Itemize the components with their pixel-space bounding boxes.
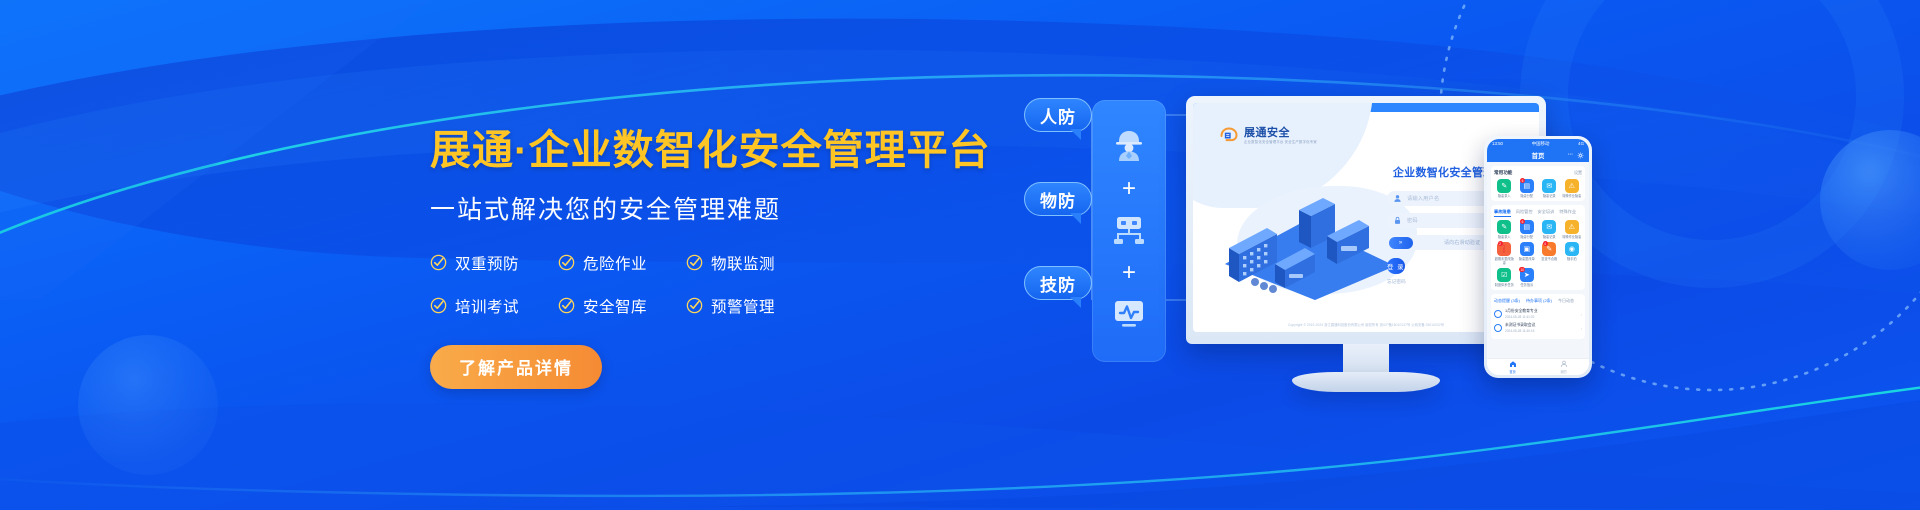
- badge-label: 物防: [1040, 187, 1076, 212]
- phone-header: 首页 ···: [1487, 148, 1589, 162]
- tab-special-work[interactable]: 特殊作业: [1559, 209, 1576, 217]
- badge-label: 技防: [1040, 271, 1076, 296]
- app-cell[interactable]: ⚠ 特殊作业隐患: [1562, 179, 1583, 198]
- diagonal-left: [0, 0, 430, 300]
- edit-icon: ✎: [1497, 179, 1511, 193]
- logo-mark-icon: [1219, 126, 1239, 146]
- activity-list-card: 动态提醒 (3条) 待办事项 (2条) 今日动态 1月份安全教育专业 2024-…: [1491, 294, 1585, 339]
- feature-label: 预警管理: [711, 295, 775, 317]
- notification-badge: 6: [1520, 178, 1525, 183]
- feature-label: 物联监测: [711, 252, 775, 274]
- list-item-title: 1月份安全教育专业: [1505, 309, 1578, 314]
- app-label: 超期未整改隐患: [1494, 258, 1515, 265]
- tabbar-profile[interactable]: 我的: [1560, 360, 1568, 374]
- badge-jifang[interactable]: 技防: [1024, 266, 1092, 300]
- pillar-icons: + +: [1092, 100, 1166, 362]
- hazard-icon-grid: ✎ 隐患录入 ▤ 6 隐患分配 ✉ 隐患记录 ⚠: [1494, 220, 1582, 287]
- clipboard-icon: ▣: [1520, 242, 1534, 256]
- user-icon: [1393, 194, 1402, 203]
- app-cell[interactable]: ✉ 隐患记录: [1539, 220, 1560, 239]
- tab-hazard[interactable]: 事故隐患: [1494, 209, 1511, 217]
- feature-item: 双重预防: [430, 252, 558, 274]
- slider-text: 请向右滑动验证: [1444, 239, 1480, 246]
- tab-todo[interactable]: 待办事项 (2条): [1526, 298, 1552, 304]
- monitoring-wave-icon: [1106, 290, 1152, 336]
- list-item-date: 2024-05-28 11:41:02: [1505, 315, 1578, 319]
- warning-icon: ⚠: [1565, 220, 1579, 234]
- hazard-card: 事故隐患 风险管控 安全培训 特殊作业 ✎ 隐患录入 ▤ 6 隐患: [1491, 205, 1585, 290]
- gear-icon[interactable]: [1577, 152, 1584, 159]
- login-submit-button[interactable]: 登 录: [1387, 258, 1405, 274]
- mail-icon: ✉: [1542, 179, 1556, 193]
- app-cell[interactable]: ➤ 10 任务指派: [1517, 268, 1538, 287]
- card-title-row: 常用功能 设置: [1494, 170, 1582, 176]
- status-dot-icon: [1494, 324, 1502, 332]
- app-label: 隐患分配: [1520, 236, 1533, 240]
- username-placeholder: 请输入用户名: [1407, 195, 1439, 202]
- list-item-text: 未测证书录取会议 2024-05-28 11:40:15: [1505, 323, 1578, 333]
- app-cell[interactable]: ☑ 制度体系任务: [1494, 268, 1515, 287]
- hero-banner: 展通·企业数智化安全管理平台 一站式解决您的安全管理难题 双重预防 危险作业: [0, 0, 1920, 510]
- logo-name: 展通安全: [1244, 128, 1317, 139]
- app-label: 随手拍: [1567, 258, 1577, 262]
- task-icon: ☑: [1497, 268, 1511, 282]
- hero-copy: 展通·企业数智化安全管理平台 一站式解决您的安全管理难题 双重预防 危险作业: [430, 128, 970, 389]
- camera-icon: ◉: [1565, 242, 1579, 256]
- feature-item: 安全智库: [558, 295, 686, 317]
- lock-icon: [1393, 216, 1402, 225]
- activity-tabs: 动态提醒 (3条) 待办事项 (2条) 今日动态: [1494, 298, 1582, 304]
- status-network: 中国移动: [1532, 141, 1550, 147]
- phone-title: 首页: [1532, 151, 1545, 160]
- app-label: 特殊作业隐患: [1562, 236, 1581, 240]
- status-indicators: 4G: [1578, 141, 1584, 146]
- device-network-icon: [1106, 206, 1152, 252]
- notification-badge: 4: [1543, 241, 1548, 246]
- tabbar-label: 首页: [1509, 369, 1515, 374]
- app-cell[interactable]: ▤ 6 隐患分配: [1517, 220, 1538, 239]
- tab-today[interactable]: 今日动态: [1558, 298, 1574, 304]
- logo-tagline: 企业数智化安全管理平台 安全生产数字化专家: [1244, 141, 1317, 144]
- app-label: 任务指派: [1520, 284, 1533, 288]
- plus-separator: +: [1114, 262, 1144, 284]
- feature-item: 物联监测: [686, 252, 814, 274]
- status-dot-icon: [1494, 310, 1502, 318]
- chevron-right-icon: ›: [1581, 312, 1582, 317]
- tab-dynamic-reminder[interactable]: 动态提醒 (3条): [1494, 298, 1520, 304]
- app-label: 隐患记录: [1543, 236, 1556, 240]
- tabbar-label: 我的: [1560, 369, 1566, 374]
- app-label: 制度体系任务: [1495, 284, 1514, 288]
- forgot-password-link[interactable]: 忘记密码: [1387, 279, 1406, 285]
- hazard-tabs: 事故隐患 风险管控 安全培训 特殊作业: [1494, 209, 1582, 217]
- app-label: 隐患分配: [1520, 195, 1533, 199]
- list-item[interactable]: 未测证书录取会议 2024-05-28 11:40:15 ›: [1494, 321, 1582, 335]
- check-circle-icon: [558, 254, 575, 271]
- app-cell[interactable]: ✎ 4 复查不合格: [1539, 242, 1560, 265]
- page-subtitle: 一站式解决您的安全管理难题: [430, 190, 970, 226]
- user-icon: [1560, 360, 1568, 368]
- monitor-base: [1292, 372, 1440, 392]
- phone-screen: 13:50 中国移动 4G 首页 ··· 常用功能 设置: [1487, 139, 1589, 375]
- password-placeholder: 密码: [1407, 217, 1418, 224]
- app-cell[interactable]: ⚠ 特殊作业隐患: [1562, 220, 1583, 239]
- feature-label: 安全智库: [583, 295, 647, 317]
- more-dots-icon[interactable]: ···: [1568, 152, 1573, 158]
- app-label: 特殊作业隐患: [1562, 195, 1581, 199]
- page-title: 展通·企业数智化安全管理平台: [430, 128, 970, 174]
- feature-label: 培训考试: [455, 295, 519, 317]
- app-cell[interactable]: ▣ 隐患整改单: [1517, 242, 1538, 265]
- edit-icon: ✎: [1497, 220, 1511, 234]
- card-title: 常用功能: [1494, 170, 1512, 176]
- check-circle-icon: [558, 297, 575, 314]
- list-item-date: 2024-05-28 11:40:15: [1505, 329, 1578, 333]
- warning-icon: ⚠: [1565, 179, 1579, 193]
- app-cell[interactable]: ▤ 6 隐患分配: [1517, 179, 1538, 198]
- worker-helmet-icon: [1106, 122, 1152, 168]
- chevron-right-icon: ›: [1581, 326, 1582, 331]
- logo-text: 展通安全 企业数智化安全管理平台 安全生产数字化专家: [1244, 128, 1317, 144]
- feature-item: 预警管理: [686, 295, 814, 317]
- tab-training[interactable]: 安全培训: [1538, 209, 1555, 217]
- list-item-title: 未测证书录取会议: [1505, 323, 1578, 328]
- phone-tabbar: 首页 我的: [1487, 358, 1589, 375]
- list-item-text: 1月份安全教育专业 2024-05-28 11:41:02: [1505, 309, 1578, 319]
- app-cell[interactable]: ❗ 2 超期未整改隐患: [1494, 242, 1515, 265]
- tabbar-home[interactable]: 首页: [1509, 360, 1517, 374]
- app-label: 复查不合格: [1541, 258, 1557, 262]
- learn-more-button[interactable]: 了解产品详情: [430, 345, 602, 389]
- home-icon: [1509, 360, 1517, 368]
- app-cell[interactable]: ✎ 隐患录入: [1494, 220, 1515, 239]
- status-time: 13:50: [1492, 141, 1503, 146]
- app-cell[interactable]: ✉ 隐患记录: [1539, 179, 1560, 198]
- tab-risk[interactable]: 风险管控: [1516, 209, 1533, 217]
- check-circle-icon: [430, 297, 447, 314]
- slider-knob[interactable]: »: [1389, 237, 1413, 249]
- notification-badge: 2: [1498, 241, 1503, 246]
- app-cell[interactable]: ◉ 随手拍: [1562, 242, 1583, 265]
- feature-label: 危险作业: [583, 252, 647, 274]
- card-action[interactable]: 设置: [1574, 170, 1582, 176]
- app-cell[interactable]: ✎ 隐患录入: [1494, 179, 1515, 198]
- feature-item: 危险作业: [558, 252, 686, 274]
- feature-item: 培训考试: [430, 295, 558, 317]
- common-icon-grid: ✎ 隐患录入 ▤ 6 隐患分配 ✉ 隐患记录 ⚠: [1494, 179, 1582, 198]
- app-label: 隐患录入: [1498, 195, 1511, 199]
- feature-list: 双重预防 危险作业 物联监测: [430, 252, 970, 317]
- isometric-city-illustration: [1215, 190, 1405, 300]
- app-label: 隐患整改单: [1519, 258, 1535, 262]
- list-item[interactable]: 1月份安全教育专业 2024-05-28 11:41:02 ›: [1494, 307, 1582, 321]
- app-label: 隐患记录: [1543, 195, 1556, 199]
- device-cluster: + + 人防: [1000, 0, 1920, 510]
- plus-separator: +: [1114, 178, 1144, 200]
- phone-status-bar: 13:50 中国移动 4G: [1487, 139, 1589, 148]
- brand-logo: 展通安全 企业数智化安全管理平台 安全生产数字化专家: [1219, 126, 1317, 146]
- check-circle-icon: [686, 254, 703, 271]
- mail-icon: ✉: [1542, 220, 1556, 234]
- badge-renfang[interactable]: 人防: [1024, 98, 1092, 132]
- common-functions-card: 常用功能 设置 ✎ 隐患录入 ▤ 6 隐患分配: [1491, 166, 1585, 201]
- check-circle-icon: [686, 297, 703, 314]
- badge-wufang[interactable]: 物防: [1024, 182, 1092, 216]
- feature-label: 双重预防: [455, 252, 519, 274]
- app-label: 隐患录入: [1498, 236, 1511, 240]
- check-circle-icon: [430, 254, 447, 271]
- mobile-phone: 13:50 中国移动 4G 首页 ··· 常用功能 设置: [1484, 136, 1592, 378]
- badge-label: 人防: [1040, 103, 1076, 128]
- circle-left: [78, 335, 218, 475]
